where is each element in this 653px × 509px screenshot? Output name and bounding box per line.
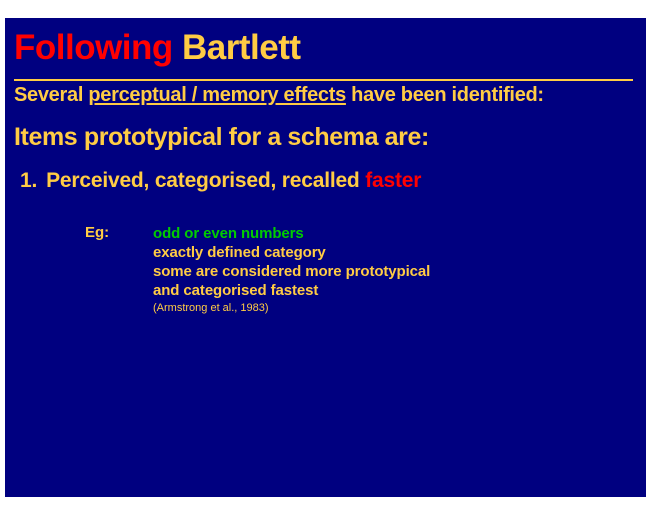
numbered-list-item-1: 1.Perceived, categorised, recalled faste… [20, 169, 421, 193]
example-citation: (Armstrong et al., 1983) [153, 301, 603, 316]
slide-title-part-gold: Bartlett [182, 28, 301, 67]
example-line-4: and categorised fastest [153, 281, 603, 300]
example-label: Eg: [85, 224, 109, 241]
slide-title: Following Bartlett [14, 28, 301, 68]
subtitle-emphasis-underlined: perceptual / memory effects [88, 84, 346, 106]
example-line-3: some are considered more prototypical [153, 262, 603, 281]
list-item-1-emphasis: faster [365, 169, 421, 192]
presentation-slide: Following Bartlett Several perceptual / … [5, 18, 646, 497]
example-lines: odd or even numbers exactly defined cate… [153, 224, 603, 316]
subtitle-text-after: have been identified: [346, 84, 544, 106]
example-line-2: exactly defined category [153, 243, 603, 262]
list-item-1-number: 1. [20, 169, 37, 192]
slide-title-part-red: Following [14, 28, 182, 67]
slide-subtitle: Several perceptual / memory effects have… [14, 84, 544, 107]
subtitle-text-before: Several [14, 84, 88, 106]
list-item-1-text: Perceived, categorised, recalled [46, 169, 365, 192]
example-line-1: odd or even numbers [153, 224, 603, 243]
title-divider-rule [14, 79, 633, 81]
slide-frame: Following Bartlett Several perceptual / … [0, 0, 653, 509]
slide-heading-secondary: Items prototypical for a schema are: [14, 123, 429, 152]
